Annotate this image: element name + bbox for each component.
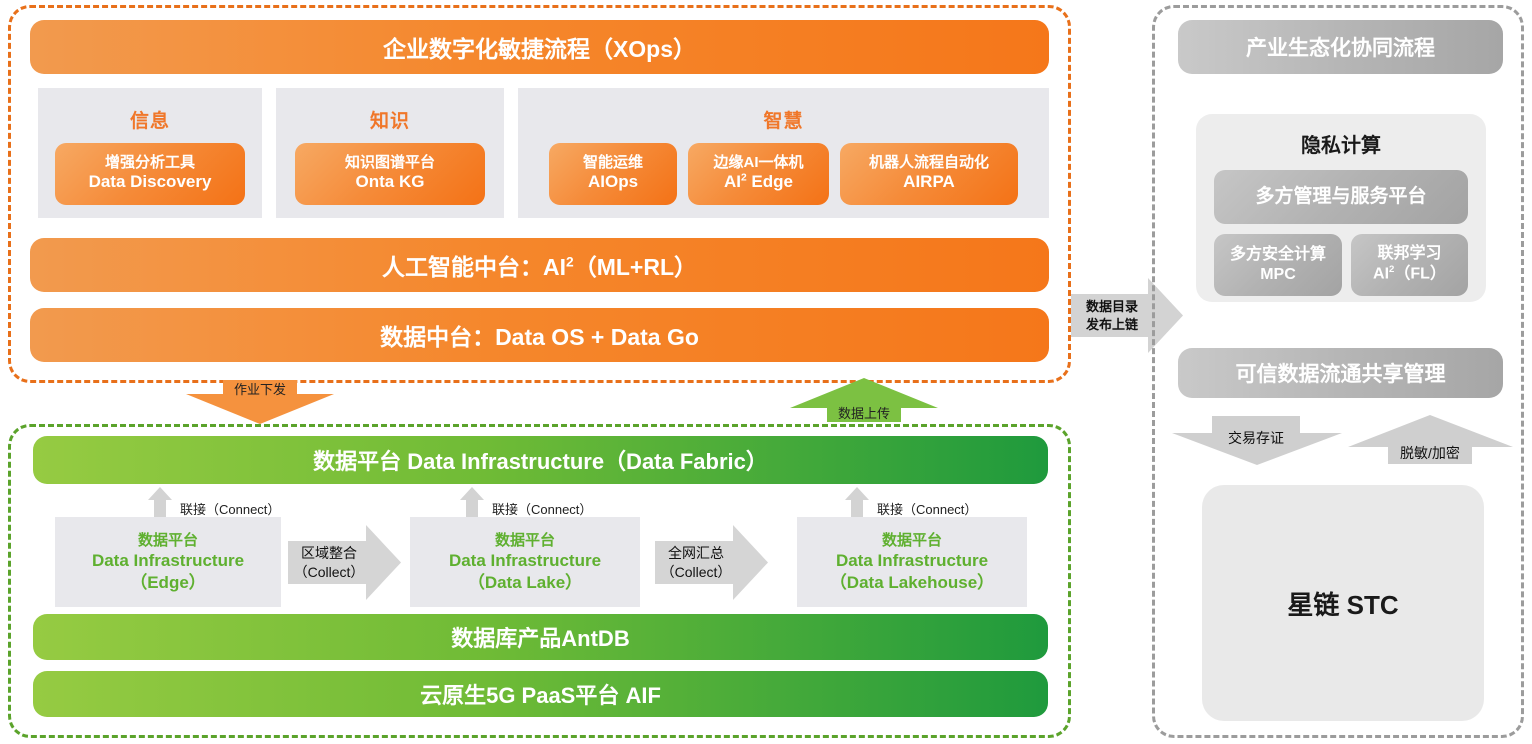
chip-data-discovery[interactable]: 增强分析工具 Data Discovery <box>55 143 245 205</box>
group-information: 信息 增强分析工具 Data Discovery <box>38 88 262 218</box>
group-knowledge: 知识 知识图谱平台 Onta KG <box>276 88 504 218</box>
chip-federated-learning-line2: AI2（FL） <box>1373 264 1446 284</box>
ai-midplatform-label: 人工智能中台：AI2（ML+RL） <box>382 248 697 282</box>
chip-ai2-edge[interactable]: 边缘AI一体机 AI2 Edge <box>688 143 829 205</box>
job-dispatch-arrow: 作业下发 <box>186 377 334 425</box>
catalog-publish-line2: 发布上链 <box>1086 316 1138 334</box>
group-information-title: 信息 <box>130 106 170 133</box>
chip-aiops[interactable]: 智能运维 AIOps <box>549 143 677 205</box>
job-dispatch-arrow-label: 作业下发 <box>223 379 297 398</box>
chip-onta-kg-line1: 知识图谱平台 <box>345 154 435 172</box>
chip-mpc[interactable]: 多方安全计算 MPC <box>1214 234 1342 296</box>
flow-arrow-collect-global: 全网汇总 （Collect） <box>655 524 768 601</box>
cell-lakehouse-line3: （Data Lakehouse） <box>830 572 994 594</box>
chip-multiparty-platform[interactable]: 多方管理与服务平台 <box>1214 170 1468 224</box>
data-upload-arrow-label: 数据上传 <box>827 403 901 422</box>
connect-arrow-edge <box>148 487 172 519</box>
ai-midplatform-bar[interactable]: 人工智能中台：AI2（ML+RL） <box>30 238 1049 292</box>
flow-arrow-collect-region: 区域整合 （Collect） <box>288 524 401 601</box>
trusted-data-sharing-bar[interactable]: 可信数据流通共享管理 <box>1178 348 1503 398</box>
connect-label-lake: 联接（Connect） <box>492 499 592 518</box>
paas-aif-bar[interactable]: 云原生5G PaaS平台 AIF <box>33 671 1048 717</box>
cell-lake-line3: （Data Lake） <box>468 572 582 594</box>
cell-data-infrastructure-lakehouse[interactable]: 数据平台 Data Infrastructure （Data Lakehouse… <box>797 517 1027 607</box>
flow-region-line1: 区域整合 <box>301 544 357 563</box>
desensitize-encrypt-arrow-label: 脱敏/加密 <box>1386 442 1474 464</box>
cell-edge-line2: Data Infrastructure <box>92 550 244 572</box>
flow-global-line1: 全网汇总 <box>668 544 724 563</box>
ecosystem-header-label: 产业生态化协同流程 <box>1246 32 1435 62</box>
group-intelligence: 智慧 智能运维 AIOps 边缘AI一体机 AI2 Edge 机器人流程自动化 … <box>518 88 1049 218</box>
flow-region-line2: （Collect） <box>294 563 365 582</box>
cell-lakehouse-line2: Data Infrastructure <box>836 550 988 572</box>
chip-onta-kg[interactable]: 知识图谱平台 Onta KG <box>295 143 485 205</box>
chip-aiops-line1: 智能运维 <box>583 154 643 172</box>
cell-lakehouse-line1: 数据平台 <box>882 531 942 550</box>
flow-arrow-collect-region-label: 区域整合 （Collect） <box>292 544 366 582</box>
flow-global-line2: （Collect） <box>661 563 732 582</box>
ecosystem-header-bar[interactable]: 产业生态化协同流程 <box>1178 20 1503 74</box>
transaction-evidence-arrow: 交易存证 <box>1172 414 1342 466</box>
chip-aiops-line2: AIOps <box>588 172 638 193</box>
chip-mpc-line2: MPC <box>1260 265 1296 285</box>
chip-federated-learning-line1: 联邦学习 <box>1377 244 1441 264</box>
paas-aif-label: 云原生5G PaaS平台 AIF <box>420 678 661 710</box>
catalog-publish-arrow-label: 数据目录 发布上链 <box>1074 296 1150 336</box>
cell-lake-line1: 数据平台 <box>495 531 555 550</box>
connect-arrow-lake <box>460 487 484 519</box>
chip-multiparty-platform-label: 多方管理与服务平台 <box>1255 185 1426 209</box>
data-fabric-header-label: 数据平台 Data Infrastructure（Data Fabric） <box>313 444 768 476</box>
chip-federated-learning[interactable]: 联邦学习 AI2（FL） <box>1351 234 1468 296</box>
chip-airpa-line2: AIRPA <box>903 172 955 193</box>
stc-box[interactable]: 星链 STC <box>1202 485 1484 721</box>
cell-data-infrastructure-edge[interactable]: 数据平台 Data Infrastructure （Edge） <box>55 517 281 607</box>
chip-mpc-line1: 多方安全计算 <box>1230 245 1326 265</box>
stc-label: 星链 STC <box>1287 585 1398 622</box>
data-midplatform-label: 数据中台：Data OS + Data Go <box>380 318 699 352</box>
group-intelligence-title: 智慧 <box>763 106 803 133</box>
data-fabric-header-bar[interactable]: 数据平台 Data Infrastructure（Data Fabric） <box>33 436 1048 484</box>
xops-header-bar[interactable]: 企业数字化敏捷流程（XOps） <box>30 20 1049 74</box>
connect-label-edge: 联接（Connect） <box>180 499 280 518</box>
group-knowledge-title: 知识 <box>370 106 410 133</box>
antdb-bar[interactable]: 数据库产品AntDB <box>33 614 1048 660</box>
cell-data-infrastructure-lake[interactable]: 数据平台 Data Infrastructure （Data Lake） <box>410 517 640 607</box>
chip-ai2-edge-line1: 边缘AI一体机 <box>713 154 803 172</box>
chip-data-discovery-line1: 增强分析工具 <box>105 154 195 172</box>
privacy-computing-box: 隐私计算 多方管理与服务平台 多方安全计算 MPC 联邦学习 AI2（FL） <box>1196 114 1486 302</box>
chip-airpa-line1: 机器人流程自动化 <box>869 154 989 172</box>
catalog-publish-line1: 数据目录 <box>1086 298 1138 316</box>
cell-edge-line3: （Edge） <box>130 572 206 594</box>
desensitize-encrypt-arrow: 脱敏/加密 <box>1348 414 1513 466</box>
chip-onta-kg-line2: Onta KG <box>356 172 425 193</box>
cell-lake-line2: Data Infrastructure <box>449 550 601 572</box>
xops-header-label: 企业数字化敏捷流程（XOps） <box>383 30 696 64</box>
chip-airpa[interactable]: 机器人流程自动化 AIRPA <box>840 143 1018 205</box>
trusted-data-sharing-label: 可信数据流通共享管理 <box>1236 358 1446 388</box>
data-midplatform-bar[interactable]: 数据中台：Data OS + Data Go <box>30 308 1049 362</box>
chip-ai2-edge-line2: AI2 Edge <box>724 172 793 193</box>
connect-arrow-lakehouse <box>845 487 869 519</box>
cell-edge-line1: 数据平台 <box>138 531 198 550</box>
connect-label-lakehouse: 联接（Connect） <box>877 499 977 518</box>
chip-data-discovery-line2: Data Discovery <box>89 172 212 193</box>
privacy-computing-title: 隐私计算 <box>1301 129 1381 158</box>
data-upload-arrow: 数据上传 <box>790 377 938 425</box>
antdb-label: 数据库产品AntDB <box>451 621 629 653</box>
flow-arrow-collect-global-label: 全网汇总 （Collect） <box>659 544 733 582</box>
transaction-evidence-arrow-label: 交易存证 <box>1212 427 1300 449</box>
